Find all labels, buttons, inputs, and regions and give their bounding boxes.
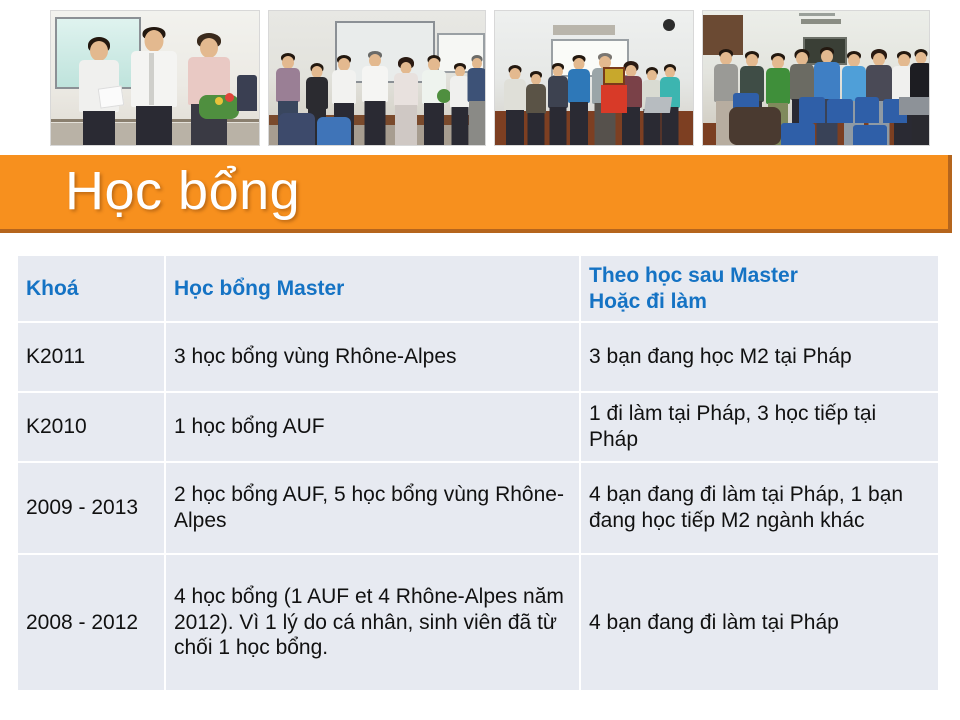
cell-hoc-bong: 2 học bổng AUF, 5 học bổng vùng Rhône-Al… [165, 462, 580, 554]
photo-strip [50, 10, 930, 146]
cell-hoc-bong: 1 học bổng AUF [165, 392, 580, 462]
photo-award-ceremony-three-people [50, 10, 260, 146]
photo-group-students-classroom [702, 10, 930, 146]
photo-group-conference-room [268, 10, 486, 146]
table-row: K2011 3 học bổng vùng Rhône-Alpes 3 bạn … [18, 322, 938, 392]
table-header-row: Khoá Học bổng Master Theo học sau Master… [18, 256, 938, 322]
cell-theo-hoc: 1 đi làm tại Pháp, 3 học tiếp tại Pháp [580, 392, 938, 462]
table-row: K2010 1 học bổng AUF 1 đi làm tại Pháp, … [18, 392, 938, 462]
column-header-hoc-bong-master: Học bổng Master [165, 256, 580, 322]
cell-khoa: K2011 [18, 322, 165, 392]
page-title: Học bổng [65, 164, 300, 218]
cell-khoa: K2010 [18, 392, 165, 462]
photo-group-classroom-whiteboard [494, 10, 694, 146]
cell-hoc-bong: 3 học bổng vùng Rhône-Alpes [165, 322, 580, 392]
cell-theo-hoc: 3 bạn đang học M2 tại Pháp [580, 322, 938, 392]
scholarship-table: Khoá Học bổng Master Theo học sau Master… [18, 256, 938, 690]
title-banner: Học bổng [0, 155, 952, 233]
column-header-khoa: Khoá [18, 256, 165, 322]
table-row: 2009 - 2013 2 học bổng AUF, 5 học bổng v… [18, 462, 938, 554]
cell-theo-hoc: 4 bạn đang đi làm tại Pháp [580, 554, 938, 690]
column-header-theo-hoc-sau-master: Theo học sau Master Hoặc đi làm [580, 256, 938, 322]
cell-hoc-bong: 4 học bổng (1 AUF et 4 Rhône-Alpes năm 2… [165, 554, 580, 690]
cell-khoa: 2008 - 2012 [18, 554, 165, 690]
table-row: 2008 - 2012 4 học bổng (1 AUF et 4 Rhône… [18, 554, 938, 690]
slide: Học bổng Khoá Học bổng Master Theo học s… [0, 0, 960, 720]
cell-theo-hoc: 4 bạn đang đi làm tại Pháp, 1 bạn đang h… [580, 462, 938, 554]
cell-khoa: 2009 - 2013 [18, 462, 165, 554]
